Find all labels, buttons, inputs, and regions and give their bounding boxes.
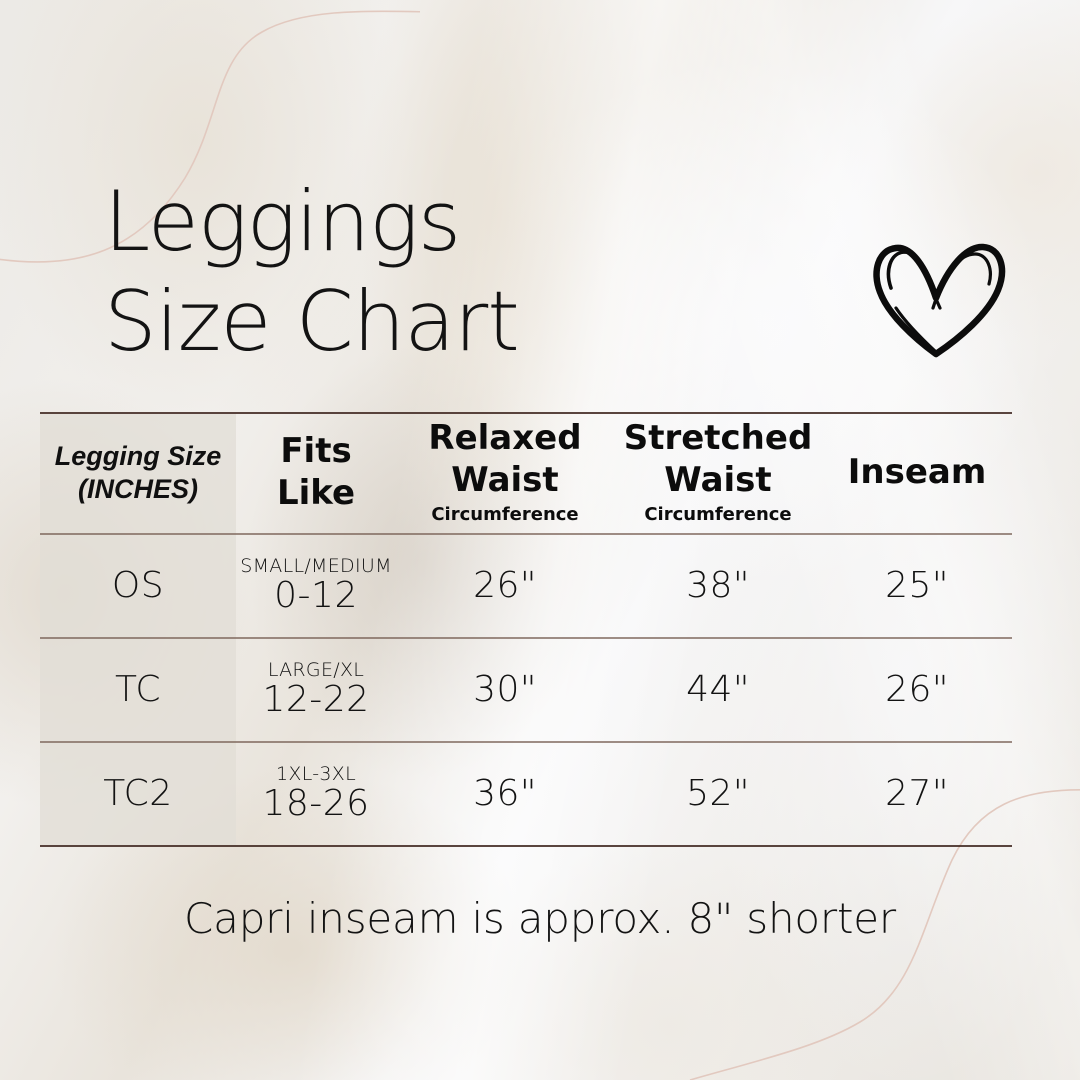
- cell-relaxed-waist: 26": [396, 565, 614, 606]
- page-title: Leggings Size Chart: [104, 172, 744, 373]
- cell-relaxed-value: 26": [473, 565, 537, 606]
- column-header-fits-line-1: Fits: [280, 431, 351, 472]
- cell-fits-like: LARGE/XL 12-22: [236, 659, 396, 720]
- column-header-inseam: Inseam: [822, 452, 1012, 493]
- table-row: TC2 1XL-3XL 18-26 36" 52" 27": [40, 741, 1012, 845]
- table-row: OS SMALL/MEDIUM 0-12 26" 38" 25": [40, 533, 1012, 637]
- column-header-stretched-waist: Stretched Waist Circumference: [614, 418, 822, 526]
- column-header-relaxed-sub: Circumference: [431, 503, 578, 526]
- cell-fits-range: 18-26: [262, 783, 369, 824]
- page-title-line-1: Leggings: [104, 172, 744, 272]
- cell-stretched-value: 52": [686, 773, 750, 814]
- cell-inseam: 26": [822, 669, 1012, 710]
- cell-fits-like: 1XL-3XL 18-26: [236, 763, 396, 824]
- column-header-relaxed-line-2: Waist: [451, 460, 558, 501]
- cell-inseam: 27": [822, 773, 1012, 814]
- cell-stretched-value: 44": [686, 669, 750, 710]
- cell-fits-range: 12-22: [262, 679, 369, 720]
- cell-stretched-waist: 44": [614, 669, 822, 710]
- table-bottom-rule: [40, 845, 1012, 847]
- column-header-size-line-1: Legging Size: [55, 440, 222, 473]
- column-header-size-line-2: (INCHES): [78, 473, 198, 506]
- cell-fits-sizes: LARGE/XL: [268, 659, 364, 681]
- column-header-relaxed-line-1: Relaxed: [428, 418, 581, 459]
- cell-inseam-value: 25": [885, 565, 949, 606]
- page-title-line-2: Size Chart: [104, 272, 744, 372]
- cell-stretched-value: 38": [686, 565, 750, 606]
- capri-inseam-note: Capri inseam is approx. 8" shorter: [0, 894, 1080, 943]
- cell-inseam-value: 26": [885, 669, 949, 710]
- cell-stretched-waist: 38": [614, 565, 822, 606]
- column-header-size: Legging Size (INCHES): [40, 440, 236, 506]
- table-row: TC LARGE/XL 12-22 30" 44" 26": [40, 637, 1012, 741]
- column-header-fits-like: Fits Like: [236, 431, 396, 514]
- column-header-inseam-label: Inseam: [848, 452, 987, 493]
- column-header-fits-line-2: Like: [277, 473, 355, 514]
- heart-doodle-icon: [866, 226, 1016, 366]
- cell-fits-like: SMALL/MEDIUM 0-12: [236, 555, 396, 616]
- cell-relaxed-value: 30": [473, 669, 537, 710]
- column-header-stretched-line-1: Stretched: [624, 418, 813, 459]
- size-chart-canvas: Leggings Size Chart Legging Size (INCHES…: [0, 0, 1080, 1080]
- cell-fits-sizes: 1XL-3XL: [276, 763, 356, 785]
- column-header-relaxed-waist: Relaxed Waist Circumference: [396, 418, 614, 526]
- cell-size-value: OS: [112, 565, 164, 606]
- size-chart-table: Legging Size (INCHES) Fits Like Relaxed …: [40, 412, 1012, 845]
- cell-size-value: TC: [115, 669, 161, 710]
- cell-size-value: TC2: [103, 773, 172, 814]
- cell-relaxed-waist: 36": [396, 773, 614, 814]
- cell-inseam: 25": [822, 565, 1012, 606]
- cell-relaxed-waist: 30": [396, 669, 614, 710]
- cell-inseam-value: 27": [885, 773, 949, 814]
- column-header-stretched-sub: Circumference: [644, 503, 791, 526]
- cell-size: TC: [40, 669, 236, 710]
- cell-size: TC2: [40, 773, 236, 814]
- cell-stretched-waist: 52": [614, 773, 822, 814]
- table-header-row: Legging Size (INCHES) Fits Like Relaxed …: [40, 412, 1012, 533]
- cell-size: OS: [40, 565, 236, 606]
- cell-fits-range: 0-12: [274, 575, 358, 616]
- cell-fits-sizes: SMALL/MEDIUM: [240, 555, 392, 577]
- cell-relaxed-value: 36": [473, 773, 537, 814]
- column-header-stretched-line-2: Waist: [664, 460, 771, 501]
